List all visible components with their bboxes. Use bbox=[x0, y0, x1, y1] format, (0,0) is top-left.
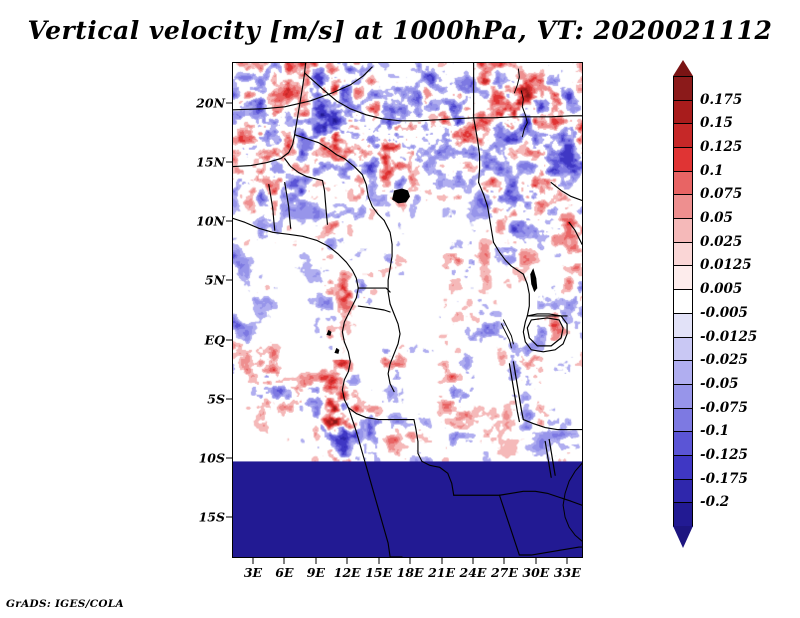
colorbar-swatch bbox=[673, 242, 693, 267]
lat-tick-label: 5S bbox=[207, 391, 225, 406]
colorbar-tick-label: 0.1 bbox=[700, 163, 724, 179]
colorbar-swatch bbox=[673, 360, 693, 385]
country-boundaries-overlay bbox=[233, 63, 582, 557]
lat-tick-mark bbox=[226, 457, 232, 458]
colorbar-swatch bbox=[673, 337, 693, 362]
lat-tick-mark bbox=[226, 398, 232, 399]
colorbar-swatch bbox=[673, 431, 693, 456]
footer-credit: GrADS: IGES/COLA bbox=[6, 598, 124, 610]
lat-tick-mark bbox=[226, 516, 232, 517]
lon-tick-label: 24E bbox=[460, 565, 487, 580]
lat-tick-mark bbox=[226, 339, 232, 340]
page-title: Vertical velocity [m/s] at 1000hPa, VT: … bbox=[0, 16, 800, 45]
colorbar-swatch bbox=[673, 218, 693, 243]
lon-tick-label: 18E bbox=[397, 565, 424, 580]
latitude-axis: 20N15N10N5NEQ5S10S15S bbox=[180, 62, 225, 558]
colorbar-tick-label: -0.05 bbox=[700, 376, 738, 392]
lat-tick-label: 15N bbox=[196, 155, 225, 170]
colorbar-tick-label: -0.175 bbox=[700, 471, 748, 487]
lon-tick-label: 12E bbox=[334, 565, 361, 580]
lon-tick-label: 27E bbox=[491, 565, 518, 580]
colorbar-tick-label: 0.175 bbox=[700, 92, 742, 108]
lon-tick-mark bbox=[567, 558, 568, 564]
colorbar-swatch bbox=[673, 408, 693, 433]
lon-tick-mark bbox=[347, 558, 348, 564]
lat-tick-mark bbox=[226, 162, 232, 163]
lat-tick-label: 15S bbox=[199, 509, 225, 524]
lon-tick-mark bbox=[284, 558, 285, 564]
colorbar-swatch bbox=[673, 123, 693, 148]
colorbar-tick-label: -0.025 bbox=[700, 352, 748, 368]
longitude-axis: 3E6E9E12E15E18E21E24E27E30E33E bbox=[0, 565, 800, 585]
lon-tick-mark bbox=[441, 558, 442, 564]
lon-tick-mark bbox=[535, 558, 536, 564]
colorbar-tick-label: 0.05 bbox=[700, 210, 733, 226]
colorbar-tick-label: -0.075 bbox=[700, 400, 748, 416]
lon-tick-mark bbox=[410, 558, 411, 564]
lon-tick-label: 3E bbox=[244, 565, 262, 580]
colorbar-swatch bbox=[673, 100, 693, 125]
lon-tick-label: 21E bbox=[428, 565, 455, 580]
lat-tick-label: 5N bbox=[205, 273, 225, 288]
lon-tick-mark bbox=[315, 558, 316, 564]
lon-tick-label: 15E bbox=[365, 565, 392, 580]
colorbar-swatch bbox=[673, 313, 693, 338]
colorbar-swatch bbox=[673, 289, 693, 314]
colorbar-tick-label: 0.005 bbox=[700, 281, 742, 297]
colorbar-tick-label: 0.15 bbox=[700, 115, 733, 131]
lon-tick-label: 6E bbox=[275, 565, 293, 580]
lat-tick-label: 10S bbox=[199, 450, 225, 465]
colorbar bbox=[673, 62, 693, 540]
colorbar-tick-label: -0.1 bbox=[700, 423, 729, 439]
colorbar-tick-label: -0.125 bbox=[700, 447, 748, 463]
colorbar-swatch bbox=[673, 384, 693, 409]
colorbar-swatch bbox=[673, 502, 693, 527]
lat-tick-mark bbox=[226, 280, 232, 281]
lon-tick-mark bbox=[472, 558, 473, 564]
colorbar-max-arrow bbox=[673, 60, 693, 76]
lat-tick-label: EQ bbox=[205, 332, 225, 347]
colorbar-swatch bbox=[673, 455, 693, 480]
colorbar-swatch bbox=[673, 76, 693, 101]
lat-tick-mark bbox=[226, 103, 232, 104]
colorbar-tick-label: -0.2 bbox=[700, 494, 729, 510]
colorbar-tick-label: 0.0125 bbox=[700, 257, 752, 273]
map-plot-area bbox=[232, 62, 583, 558]
colorbar-swatch bbox=[673, 479, 693, 504]
colorbar-tick-label: 0.125 bbox=[700, 139, 742, 155]
lon-tick-label: 30E bbox=[522, 565, 549, 580]
colorbar-swatch bbox=[673, 194, 693, 219]
colorbar-swatch bbox=[673, 171, 693, 196]
lat-tick-label: 10N bbox=[196, 214, 225, 229]
lon-tick-mark bbox=[504, 558, 505, 564]
colorbar-tick-label: 0.025 bbox=[700, 234, 742, 250]
colorbar-tick-label: -0.0125 bbox=[700, 329, 757, 345]
colorbar-swatch bbox=[673, 147, 693, 172]
colorbar-swatch bbox=[673, 265, 693, 290]
colorbar-min-arrow bbox=[673, 526, 693, 548]
lon-tick-mark bbox=[378, 558, 379, 564]
lat-tick-mark bbox=[226, 221, 232, 222]
colorbar-tick-label: 0.075 bbox=[700, 186, 742, 202]
lon-tick-label: 33E bbox=[554, 565, 581, 580]
lon-tick-label: 9E bbox=[307, 565, 325, 580]
colorbar-tick-label: -0.005 bbox=[700, 305, 748, 321]
lat-tick-label: 20N bbox=[196, 96, 225, 111]
lon-tick-mark bbox=[252, 558, 253, 564]
